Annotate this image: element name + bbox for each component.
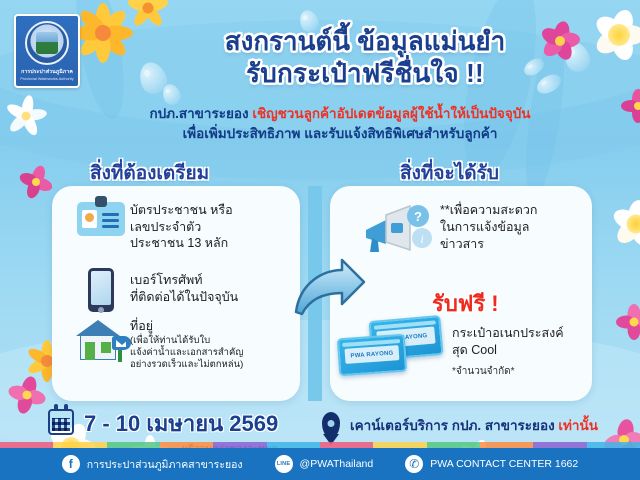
svg-text:?: ?: [414, 209, 422, 224]
subtitle-branch: กปภ.สาขาระยอง: [149, 106, 252, 121]
prepare-id-line-1: บัตรประชาชน หรือ: [130, 202, 233, 219]
receive-note: **เพื่อความสะดวก ในการแจ้งข้อมูล ข่าวสาร: [440, 202, 537, 253]
gift-description: กระเป๋าอเนกประสงค์ สุด Cool *จำนวนจำกัด*: [452, 325, 564, 379]
pink-orchid-decoration: [16, 162, 56, 202]
pink-orchid-decoration: [618, 86, 640, 126]
prepare-item-address: ที่อยู่ (เพื่อให้ท่านได้รับใบ แจ้งค่าน้ำ…: [72, 318, 243, 372]
headline: สงกรานต์นี้ ข้อมูลแม่นยำ รับกระเป๋าฟรีชื…: [130, 26, 600, 89]
footer-bar: f การประปาส่วนภูมิภาคสาขาระยอง LINE @PWA…: [0, 448, 640, 480]
gift-line-1: กระเป๋าอเนกประสงค์: [452, 325, 564, 342]
subtitle-line-2: เพื่อเพิ่มประสิทธิภาพ และรับแจ้งสิทธิพิเ…: [70, 124, 610, 144]
free-badge: รับฟรี !: [432, 286, 499, 321]
footer-phone[interactable]: ✆ PWA CONTACT CENTER 1662: [405, 455, 578, 473]
footer-line[interactable]: LINE @PWAThailand: [275, 455, 374, 473]
gift-line-2: สุด Cool: [452, 342, 564, 359]
plumeria-flower-decoration: [608, 196, 640, 252]
house-mailbox-icon: [72, 318, 130, 362]
poster-canvas: การประปาส่วนภูมิภาค Provincial Waterwork…: [0, 0, 640, 480]
id-card-icon: [72, 202, 130, 236]
prepare-id-line-2: เลขประจำตัว: [130, 219, 233, 236]
footer-facebook[interactable]: f การประปาส่วนภูมิภาคสาขาระยอง: [62, 455, 243, 473]
bag-label-front: PWA RAYONG: [345, 345, 400, 364]
location-text: เคาน์เตอร์บริการ กปภ. สาขาระยอง: [350, 418, 558, 433]
subtitle: กปภ.สาขาระยอง เชิญชวนลูกค้าอัปเดตข้อมูลผ…: [70, 104, 610, 143]
prepare-item-id-card: บัตรประชาชน หรือ เลขประจำตัว ประชาชน 13 …: [72, 202, 233, 252]
pwa-seal-icon: [25, 21, 69, 65]
subtitle-invite: เชิญชวนลูกค้าอัปเดตข้อมูลผู้ใช้น้ำให้เป็…: [252, 106, 530, 121]
calendar-icon: [48, 409, 74, 435]
subtitle-line-1: กปภ.สาขาระยอง เชิญชวนลูกค้าอัปเดตข้อมูลผ…: [70, 104, 610, 124]
prepare-address-note-3: อย่างรวดเร็วและไม่ตกหล่น): [130, 359, 243, 371]
campaign-date: 7 - 10 เมษายน 2569: [84, 406, 278, 441]
prepare-address-title: ที่อยู่: [130, 318, 243, 335]
right-arrow-icon: [292, 258, 368, 320]
receive-note-line-1: **เพื่อความสะดวก: [440, 202, 537, 219]
line-label: @PWAThailand: [300, 458, 374, 470]
receive-note-line-3: ข่าวสาร: [440, 236, 537, 253]
white-jasmine-decoration: [2, 92, 50, 140]
section-title-prepare: สิ่งที่ต้องเตรียม: [90, 158, 209, 188]
prepare-item-phone: เบอร์โทรศัพท์ ที่ติดต่อได้ในปัจจุบัน: [72, 268, 238, 312]
receive-note-line-2: ในการแจ้งข้อมูล: [440, 219, 537, 236]
mobile-phone-icon: [72, 268, 130, 312]
location-block: เคาน์เตอร์บริการ กปภ. สาขาระยอง เท่านั้น: [322, 412, 598, 438]
pwa-logo: การประปาส่วนภูมิภาค Provincial Waterwork…: [14, 14, 80, 88]
prepare-phone-line-2: ที่ติดต่อได้ในปัจจุบัน: [130, 289, 238, 306]
tote-bag-illustration: PWA RAYONG PWA RAYONG: [338, 318, 446, 380]
headline-line-2: รับกระเป๋าฟรีชื่นใจ !!: [130, 58, 600, 90]
prepare-phone-line-1: เบอร์โทรศัพท์: [130, 272, 238, 289]
logo-label-thai: การประปาส่วนภูมิภาค: [21, 68, 73, 76]
facebook-icon: f: [62, 455, 80, 473]
gift-limited-note: *จำนวนจำกัด*: [452, 364, 564, 379]
tote-bag-front: PWA RAYONG: [337, 334, 407, 377]
pink-orchid-decoration: [4, 372, 50, 418]
megaphone-icon: ? i: [360, 200, 432, 258]
phone-icon: ✆: [405, 455, 423, 473]
prepare-address-note-1: (เพื่อให้ท่านได้รับใบ: [130, 335, 243, 347]
phone-label: PWA CONTACT CENTER 1662: [430, 458, 578, 470]
facebook-label: การประปาส่วนภูมิภาคสาขาระยอง: [87, 456, 243, 473]
logo-label-english: Provincial Waterworks Authority: [20, 77, 73, 81]
prepare-id-line-3: ประชาชน 13 หลัก: [130, 235, 233, 252]
section-title-receive: สิ่งที่จะได้รับ: [400, 158, 499, 188]
map-pin-icon: [322, 412, 340, 438]
prepare-address-note-2: แจ้งค่าน้ำและเอกสารสำคัญ: [130, 347, 243, 359]
svg-text:i: i: [420, 232, 423, 246]
headline-line-1: สงกรานต์นี้ ข้อมูลแม่นยำ: [130, 26, 600, 58]
pink-orchid-decoration: [612, 300, 640, 344]
location-highlight: เท่านั้น: [558, 418, 598, 433]
line-icon: LINE: [275, 455, 293, 473]
